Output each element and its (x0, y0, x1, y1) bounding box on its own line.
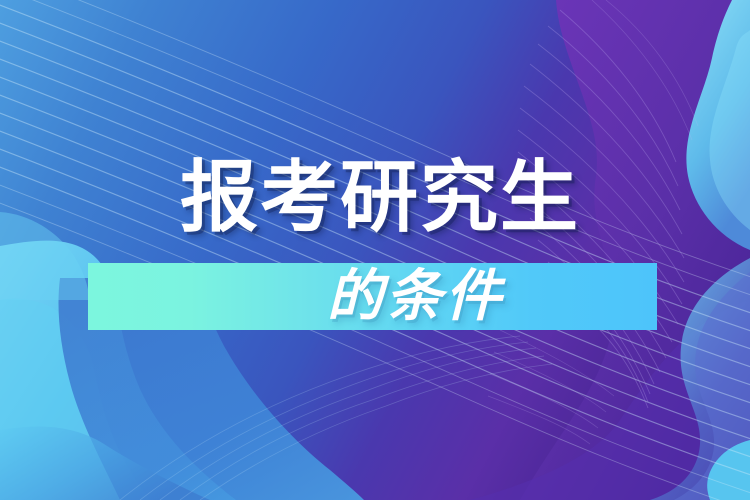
banner-graphic: 报考研究生 的条件 (0, 0, 750, 500)
banner-title-line: 报考研究生 (0, 150, 750, 246)
background-line-texture-bottom (0, 0, 750, 500)
banner-subtitle-line: 的条件 (88, 263, 657, 330)
banner-subtitle: 的条件 (327, 266, 504, 328)
banner-title: 报考研究生 (180, 150, 580, 246)
